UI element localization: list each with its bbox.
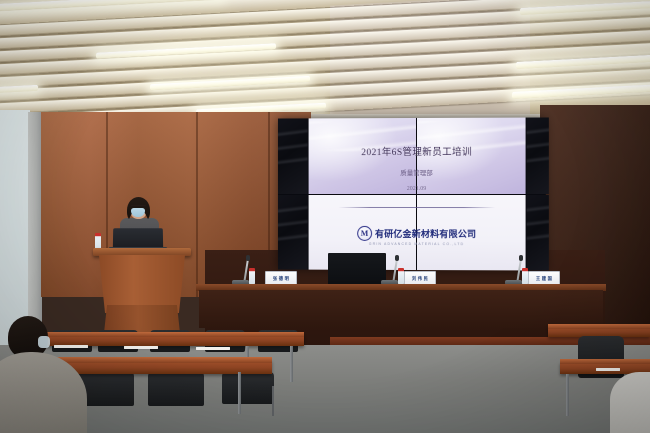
name-placard-label: 刘 伟 民 — [412, 276, 428, 282]
video-wall-panel-off — [527, 195, 549, 271]
desk-leg — [290, 346, 293, 382]
microphone-head-icon — [519, 255, 523, 261]
audience-desk-edge — [560, 359, 650, 364]
audience-chair[interactable] — [148, 372, 204, 406]
desk-leg — [238, 372, 241, 414]
wall-panel-seam — [196, 112, 198, 297]
desk-paper — [54, 345, 88, 348]
microphone-head-icon — [246, 255, 250, 261]
video-wall-panel-off — [527, 117, 549, 193]
video-wall-panel-on — [417, 118, 526, 194]
foreground-attendee-mask — [38, 336, 50, 348]
chair-leg — [272, 386, 274, 416]
conference-room-photo: 2021年6S管理新员工培训 质量管理部 2021.09 M 有研亿金新材料有限… — [0, 0, 650, 433]
left-pale-wall — [0, 110, 30, 350]
lectern-body — [99, 255, 185, 313]
video-wall-panel-on — [309, 118, 416, 194]
audience-desk-edge — [548, 324, 650, 329]
video-wall-panel-off — [278, 194, 308, 269]
head-table-front-panel — [199, 290, 603, 328]
desk-leg — [566, 374, 569, 416]
desk-paper — [596, 368, 620, 371]
recessed-monitor — [328, 253, 386, 286]
audience-chair[interactable] — [222, 372, 274, 404]
video-wall-panel-on — [417, 195, 526, 271]
foreground-attendee-right — [610, 372, 650, 433]
water-bottle — [249, 268, 255, 285]
lectern-top — [93, 248, 191, 256]
name-placard-label: 王 建 国 — [536, 276, 552, 282]
audience-desk-edge — [14, 332, 304, 337]
name-placard-label: 张 德 明 — [273, 276, 289, 282]
desk-paper — [196, 347, 230, 350]
lectern-base — [104, 305, 180, 333]
slatted-ceiling — [0, 0, 650, 122]
video-wall-panel-off — [278, 118, 308, 193]
desk-paper — [124, 346, 158, 349]
video-wall-display[interactable]: 2021年6S管理新员工培训 质量管理部 2021.09 M 有研亿金新材料有限… — [278, 117, 546, 270]
microphone-head-icon — [395, 255, 399, 261]
